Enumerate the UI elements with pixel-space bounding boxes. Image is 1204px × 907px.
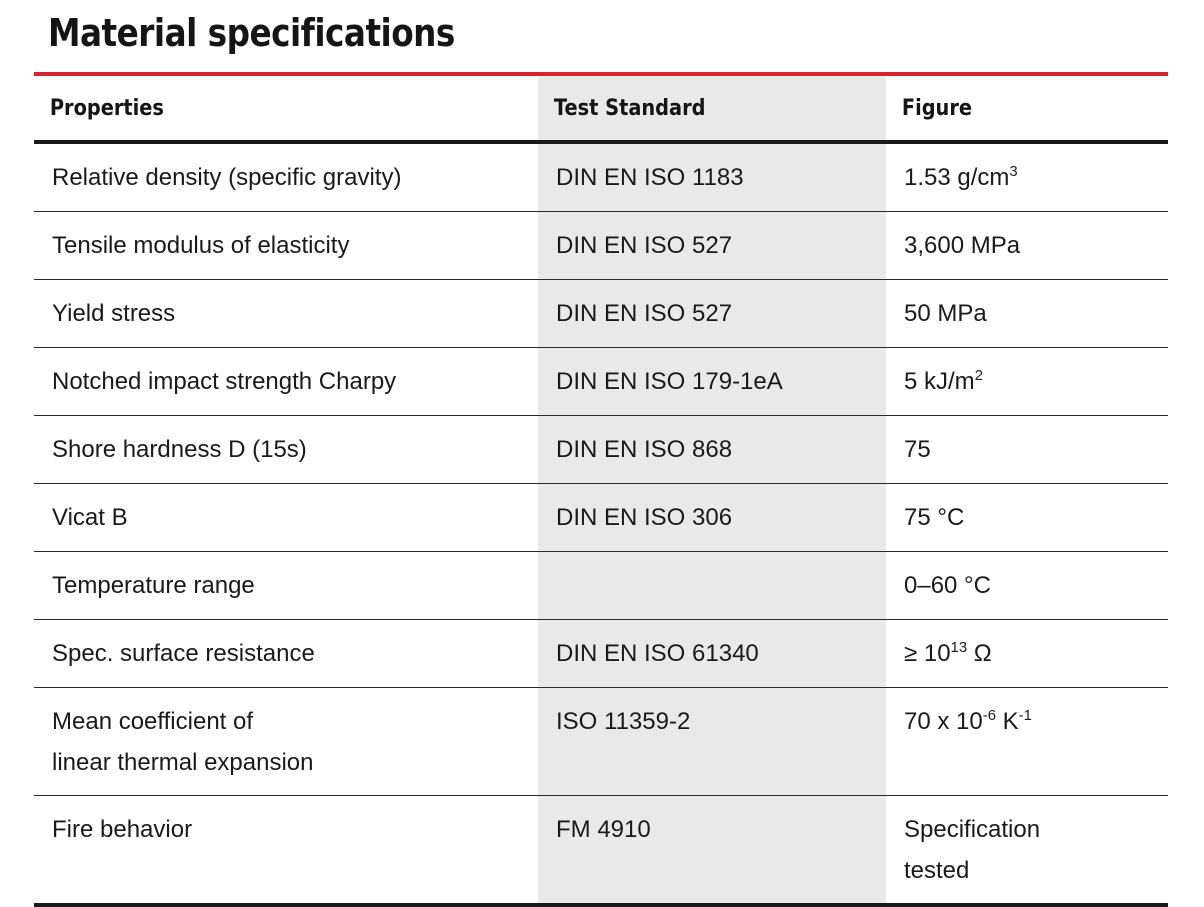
cell-test-standard: DIN EN ISO 61340 <box>538 620 886 688</box>
test-standard-label: DIN EN ISO 306 <box>538 484 886 550</box>
figure-line-1: ≥ 1013 Ω <box>904 633 1154 674</box>
figure-value: 1.53 g/cm3 <box>886 144 1168 210</box>
property-label: Vicat B <box>34 484 538 550</box>
figure-value: 5 kJ/m2 <box>886 348 1168 414</box>
figure-line-1: 0–60 °C <box>904 565 1154 606</box>
cell-figure: 0–60 °C <box>886 552 1168 620</box>
table-row: Mean coefficient oflinear thermal expans… <box>34 688 1168 796</box>
cell-test-standard <box>538 552 886 620</box>
property-line-1: Temperature range <box>52 565 524 606</box>
page-title: Material specifications <box>48 8 455 58</box>
figure-line-1: 75 <box>904 429 1154 470</box>
column-header-properties-label: Properties <box>34 76 478 121</box>
figure-value: Specificationtested <box>886 796 1168 903</box>
figure-line-1: Specification <box>904 809 1154 850</box>
figure-value: ≥ 1013 Ω <box>886 620 1168 686</box>
table-head: Properties Test Standard Figure <box>34 76 1168 142</box>
column-header-figure: Figure <box>886 76 1168 142</box>
property-label: Shore hardness D (15s) <box>34 416 538 482</box>
table-row: Relative density (specific gravity)DIN E… <box>34 142 1168 212</box>
figure-line-1: 50 MPa <box>904 293 1154 334</box>
test-standard-label: DIN EN ISO 61340 <box>538 620 886 686</box>
property-label: Notched impact strength Charpy <box>34 348 538 414</box>
column-header-properties: Properties <box>34 76 538 142</box>
figure-line-1: 75 °C <box>904 497 1154 538</box>
property-line-1: Yield stress <box>52 293 524 334</box>
cell-property: Shore hardness D (15s) <box>34 416 538 484</box>
figure-line-1: 3,600 MPa <box>904 225 1154 266</box>
figure-superscript: 3 <box>1009 164 1017 180</box>
figure-value: 3,600 MPa <box>886 212 1168 278</box>
figure-superscript: 13 <box>951 640 968 656</box>
column-header-test-standard: Test Standard <box>538 76 886 142</box>
test-standard-label: ISO 11359-2 <box>538 688 886 754</box>
table-row: Fire behaviorFM 4910Specificationtested <box>34 796 1168 906</box>
cell-figure: ≥ 1013 Ω <box>886 620 1168 688</box>
cell-property: Mean coefficient oflinear thermal expans… <box>34 688 538 796</box>
property-line-1: Relative density (specific gravity) <box>52 157 524 198</box>
cell-figure: 3,600 MPa <box>886 212 1168 280</box>
cell-property: Notched impact strength Charpy <box>34 348 538 416</box>
property-label: Tensile modulus of elasticity <box>34 212 538 278</box>
cell-figure: 1.53 g/cm3 <box>886 142 1168 212</box>
test-standard-label: FM 4910 <box>538 796 886 862</box>
table-row: Spec. surface resistanceDIN EN ISO 61340… <box>34 620 1168 688</box>
figure-value: 50 MPa <box>886 280 1168 346</box>
table-body: Relative density (specific gravity)DIN E… <box>34 142 1168 905</box>
figure-value: 0–60 °C <box>886 552 1168 618</box>
cell-test-standard: ISO 11359-2 <box>538 688 886 796</box>
property-label: Spec. surface resistance <box>34 620 538 686</box>
cell-test-standard: FM 4910 <box>538 796 886 906</box>
cell-property: Temperature range <box>34 552 538 620</box>
table-row: Shore hardness D (15s)DIN EN ISO 86875 <box>34 416 1168 484</box>
cell-test-standard: DIN EN ISO 868 <box>538 416 886 484</box>
column-header-test-standard-label: Test Standard <box>538 76 844 121</box>
property-label: Mean coefficient oflinear thermal expans… <box>34 688 538 795</box>
property-label: Yield stress <box>34 280 538 346</box>
figure-line-1: 70 x 10-6 K-1 <box>904 701 1154 742</box>
cell-property: Spec. surface resistance <box>34 620 538 688</box>
table-row: Yield stressDIN EN ISO 52750 MPa <box>34 280 1168 348</box>
figure-value: 75 <box>886 416 1168 482</box>
table-row: Vicat BDIN EN ISO 30675 °C <box>34 484 1168 552</box>
table-row: Tensile modulus of elasticityDIN EN ISO … <box>34 212 1168 280</box>
material-specifications-table: Properties Test Standard Figure Relative… <box>34 76 1168 907</box>
cell-test-standard: DIN EN ISO 527 <box>538 212 886 280</box>
cell-property: Fire behavior <box>34 796 538 906</box>
figure-value: 75 °C <box>886 484 1168 550</box>
cell-test-standard: DIN EN ISO 527 <box>538 280 886 348</box>
test-standard-label: DIN EN ISO 1183 <box>538 144 886 210</box>
cell-property: Tensile modulus of elasticity <box>34 212 538 280</box>
figure-line-2: tested <box>904 850 1154 891</box>
property-line-1: Spec. surface resistance <box>52 633 524 674</box>
figure-superscript-2: -1 <box>1019 708 1032 724</box>
figure-line-1: 1.53 g/cm3 <box>904 157 1154 198</box>
property-line-1: Fire behavior <box>52 809 524 850</box>
cell-figure: 5 kJ/m2 <box>886 348 1168 416</box>
test-standard-label: DIN EN ISO 527 <box>538 280 886 346</box>
table-row: Notched impact strength CharpyDIN EN ISO… <box>34 348 1168 416</box>
figure-superscript: 2 <box>975 368 983 384</box>
test-standard-label <box>538 552 886 577</box>
property-label: Relative density (specific gravity) <box>34 144 538 210</box>
property-line-1: Vicat B <box>52 497 524 538</box>
property-line-2: linear thermal expansion <box>52 742 524 783</box>
cell-figure: Specificationtested <box>886 796 1168 906</box>
spec-table-container: Properties Test Standard Figure Relative… <box>34 72 1168 907</box>
material-specifications-page: Material specifications Properties Test … <box>0 0 1204 904</box>
test-standard-label: DIN EN ISO 179-1eA <box>538 348 886 414</box>
cell-figure: 50 MPa <box>886 280 1168 348</box>
property-line-1: Shore hardness D (15s) <box>52 429 524 470</box>
table-row: Temperature range0–60 °C <box>34 552 1168 620</box>
cell-figure: 70 x 10-6 K-1 <box>886 688 1168 796</box>
test-standard-label: DIN EN ISO 527 <box>538 212 886 278</box>
figure-line-1: 5 kJ/m2 <box>904 361 1154 402</box>
cell-figure: 75 <box>886 416 1168 484</box>
cell-property: Relative density (specific gravity) <box>34 142 538 212</box>
cell-test-standard: DIN EN ISO 1183 <box>538 142 886 212</box>
column-header-figure-label: Figure <box>886 76 1134 121</box>
cell-test-standard: DIN EN ISO 179-1eA <box>538 348 886 416</box>
cell-property: Yield stress <box>34 280 538 348</box>
cell-figure: 75 °C <box>886 484 1168 552</box>
property-line-1: Tensile modulus of elasticity <box>52 225 524 266</box>
cell-test-standard: DIN EN ISO 306 <box>538 484 886 552</box>
cell-property: Vicat B <box>34 484 538 552</box>
property-line-1: Mean coefficient of <box>52 701 524 742</box>
test-standard-label: DIN EN ISO 868 <box>538 416 886 482</box>
property-label: Fire behavior <box>34 796 538 862</box>
figure-superscript: -6 <box>983 708 996 724</box>
figure-value: 70 x 10-6 K-1 <box>886 688 1168 754</box>
table-header-row: Properties Test Standard Figure <box>34 76 1168 142</box>
property-label: Temperature range <box>34 552 538 618</box>
property-line-1: Notched impact strength Charpy <box>52 361 524 402</box>
